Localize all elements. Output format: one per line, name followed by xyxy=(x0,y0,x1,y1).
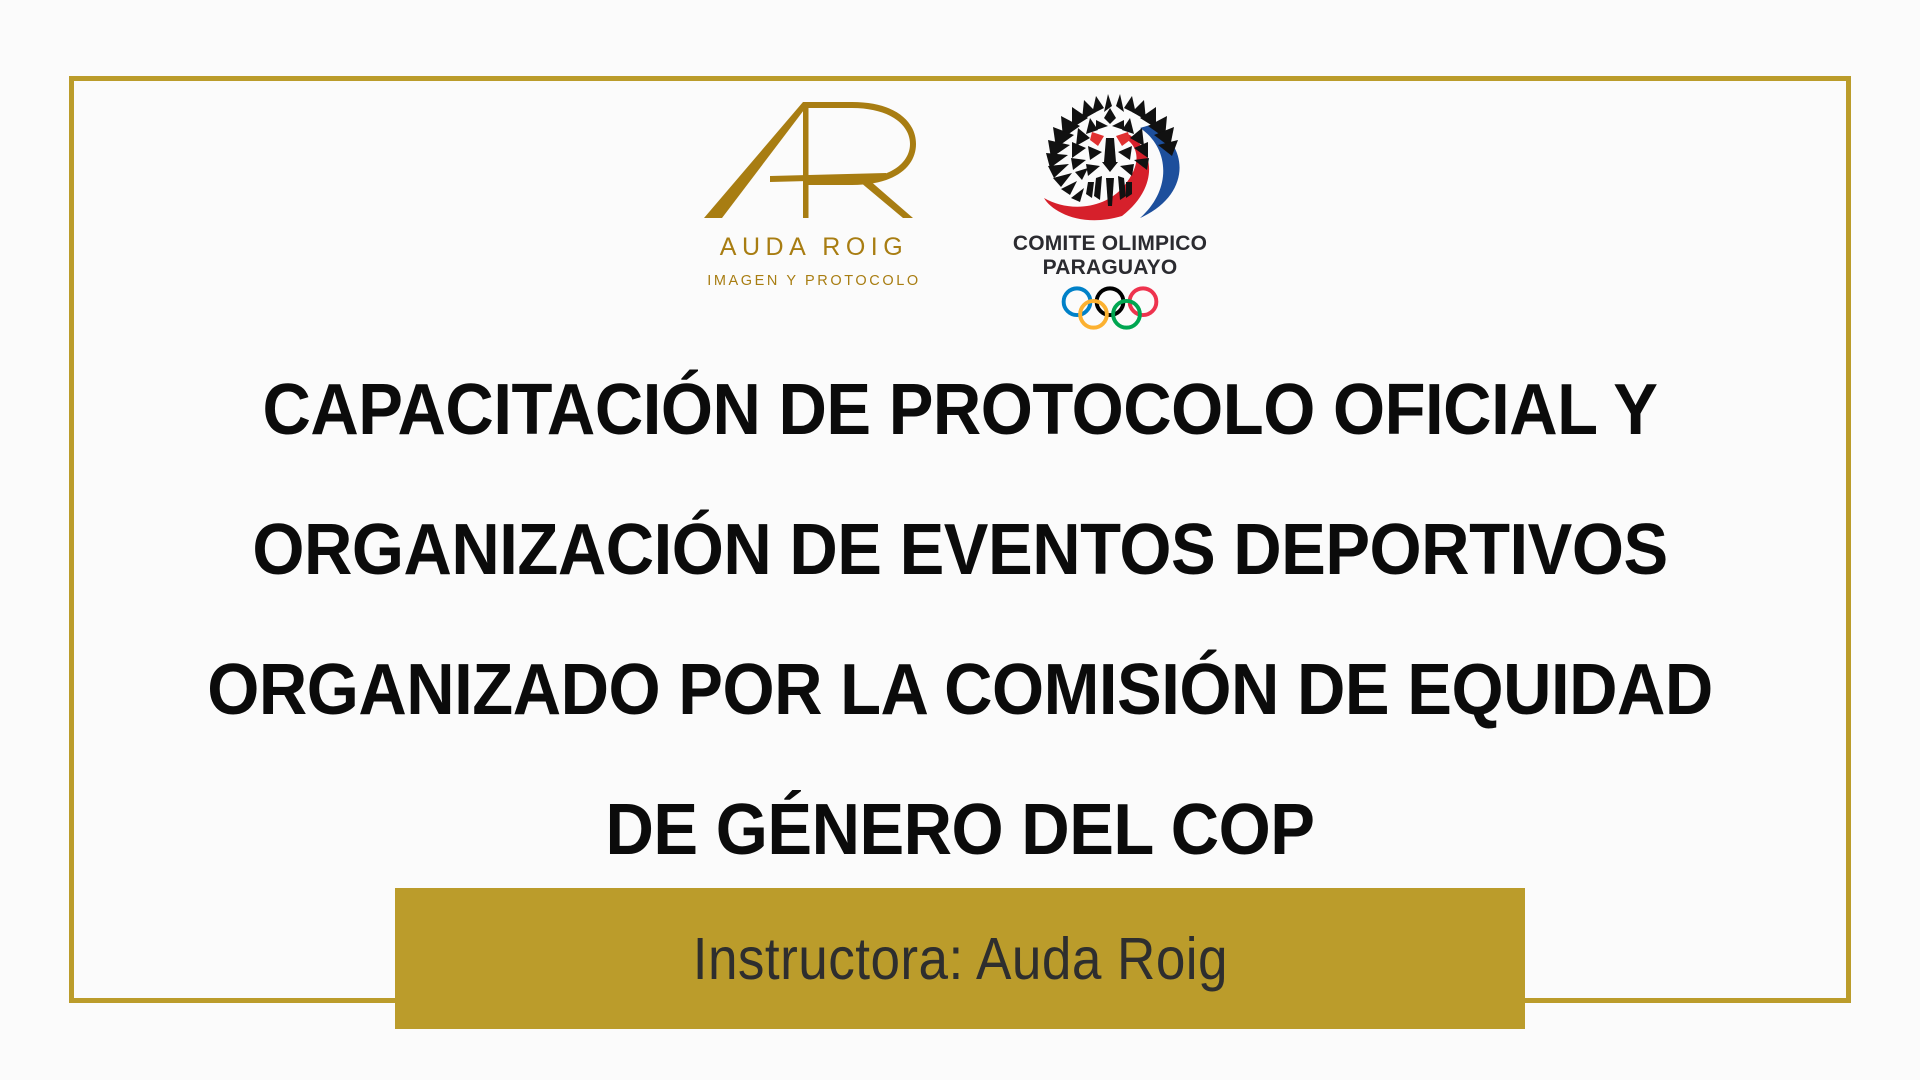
auda-roig-tagline: IMAGEN Y PROTOCOLO xyxy=(707,273,921,289)
lion-head-emblem-icon xyxy=(1012,90,1208,228)
logo-row: AUDA ROIG IMAGEN Y PROTOCOLO xyxy=(0,90,1920,340)
page-title: CAPACITACIÓN DE PROTOCOLO OFICIAL Y ORGA… xyxy=(60,340,1860,900)
title-line-2: ORGANIZACIÓN DE EVENTOS DEPORTIVOS xyxy=(123,480,1797,620)
title-line-1: CAPACITACIÓN DE PROTOCOLO OFICIAL Y xyxy=(123,340,1797,480)
cop-name: COMITE OLIMPICO PARAGUAYO xyxy=(1013,232,1207,279)
auda-roig-name: AUDA ROIG xyxy=(720,233,908,262)
comite-olimpico-paraguayo-logo: COMITE OLIMPICO PARAGUAYO xyxy=(995,90,1225,330)
auda-roig-logo: AUDA ROIG IMAGEN Y PROTOCOLO xyxy=(695,90,933,289)
presentation-slide: AUDA ROIG IMAGEN Y PROTOCOLO xyxy=(0,0,1920,1080)
title-line-4: DE GÉNERO DEL COP xyxy=(123,760,1797,900)
title-line-3: ORGANIZADO POR LA COMISIÓN DE EQUIDAD xyxy=(123,620,1797,760)
instructor-banner: Instructora: Auda Roig xyxy=(395,888,1525,1029)
olympic-rings-icon xyxy=(1058,286,1162,330)
cop-name-line1: COMITE OLIMPICO xyxy=(1013,232,1207,256)
instructor-name: Instructora: Auda Roig xyxy=(692,925,1227,993)
cop-name-line2: PARAGUAYO xyxy=(1013,256,1207,280)
ar-monogram-icon xyxy=(700,96,928,224)
